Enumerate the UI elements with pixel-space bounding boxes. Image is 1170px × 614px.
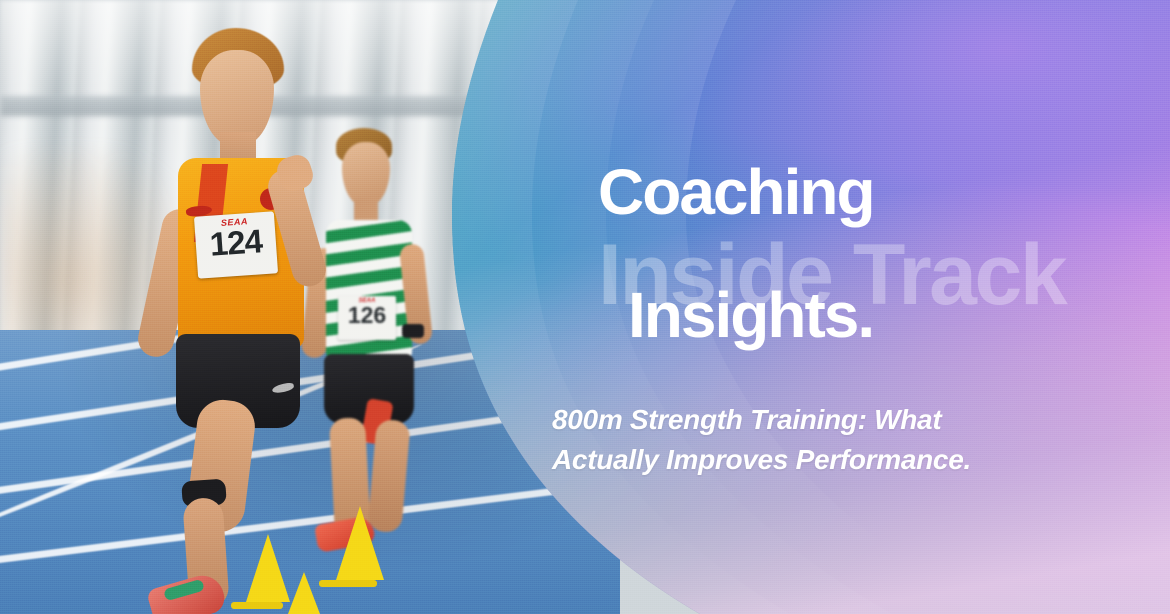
- coaching-insights-banner: SEAA 126 SEAA 124: [0, 0, 1170, 614]
- subtitle-line-1: 800m Strength Training: What: [552, 400, 971, 440]
- banner-text-block: Inside Track Coaching Insights. 800m Str…: [0, 0, 1170, 614]
- subtitle-line-2: Actually Improves Performance.: [552, 440, 971, 480]
- headline-line-1: Coaching: [598, 160, 874, 226]
- headline-line-2: Insights.: [628, 283, 874, 349]
- article-subtitle: 800m Strength Training: What Actually Im…: [552, 400, 971, 480]
- page-title: Coaching Insights.: [598, 160, 874, 349]
